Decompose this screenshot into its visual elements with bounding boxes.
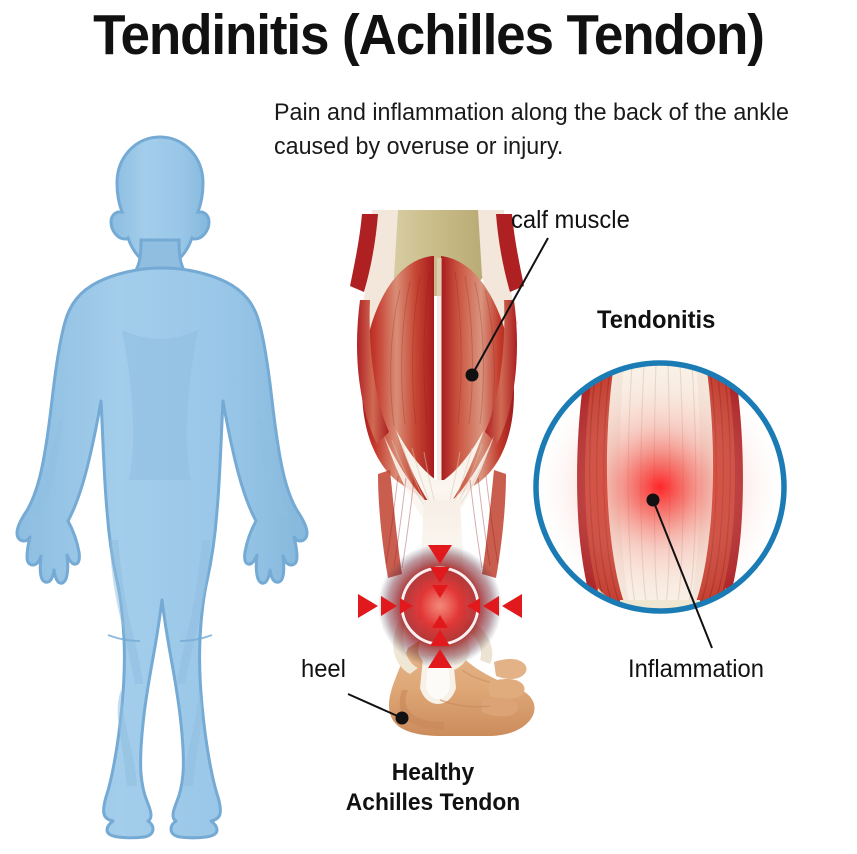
label-inflammation: Inflammation [628, 655, 764, 684]
healthy-line-2: Achilles Tendon [346, 789, 520, 816]
healthy-line-1: Healthy [392, 759, 474, 786]
label-calf-muscle: calf muscle [511, 206, 630, 235]
label-heel: heel [301, 655, 346, 684]
human-body-silhouette [17, 137, 307, 838]
heel-leader-dot [396, 712, 409, 725]
calf-muscle-leader-dot [466, 369, 479, 382]
inflammation-leader-dot [647, 494, 660, 507]
inset-inflammation-glow [530, 359, 790, 615]
healthy-achilles-tendon-leg [350, 210, 535, 736]
infographic-root: Tendinitis (Achilles Tendon) Pain and in… [0, 0, 857, 854]
label-healthy-achilles-tendon: Healthy Achilles Tendon [338, 758, 528, 818]
tendonitis-magnified-circle [530, 359, 790, 628]
label-tendonitis: Tendonitis [597, 306, 715, 335]
illustration-canvas [0, 0, 857, 854]
